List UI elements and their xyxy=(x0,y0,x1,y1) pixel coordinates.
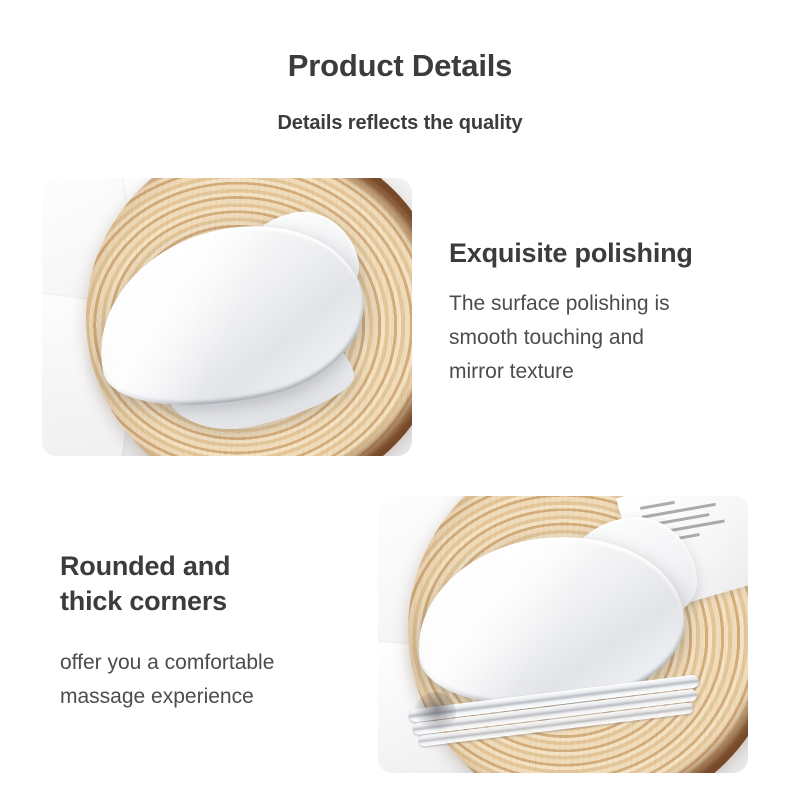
photo-scene xyxy=(378,496,748,773)
heading-line: thick corners xyxy=(60,584,230,619)
product-photo-exquisite-polishing xyxy=(42,178,412,456)
body-line: massage experience xyxy=(60,680,274,714)
body-line: mirror texture xyxy=(449,355,670,389)
feature-heading-exquisite-polishing: Exquisite polishing xyxy=(449,236,693,271)
heading-line: Rounded and xyxy=(60,549,230,584)
feature-heading-rounded-thick-corners: Rounded and thick corners xyxy=(60,549,230,618)
photo-scene xyxy=(42,178,412,456)
page-title: Product Details xyxy=(0,48,800,84)
product-photo-rounded-thick-corners xyxy=(378,496,748,773)
body-line: The surface polishing is xyxy=(449,287,670,321)
feature-body-rounded-thick-corners: offer you a comfortable massage experien… xyxy=(60,646,274,714)
body-line: offer you a comfortable xyxy=(60,646,274,680)
feature-body-exquisite-polishing: The surface polishing is smooth touching… xyxy=(449,287,670,389)
gua-sha-corner-shadow xyxy=(414,692,456,734)
page-subtitle: Details reflects the quality xyxy=(0,112,800,135)
text-line xyxy=(640,501,675,510)
body-line: smooth touching and xyxy=(449,321,670,355)
